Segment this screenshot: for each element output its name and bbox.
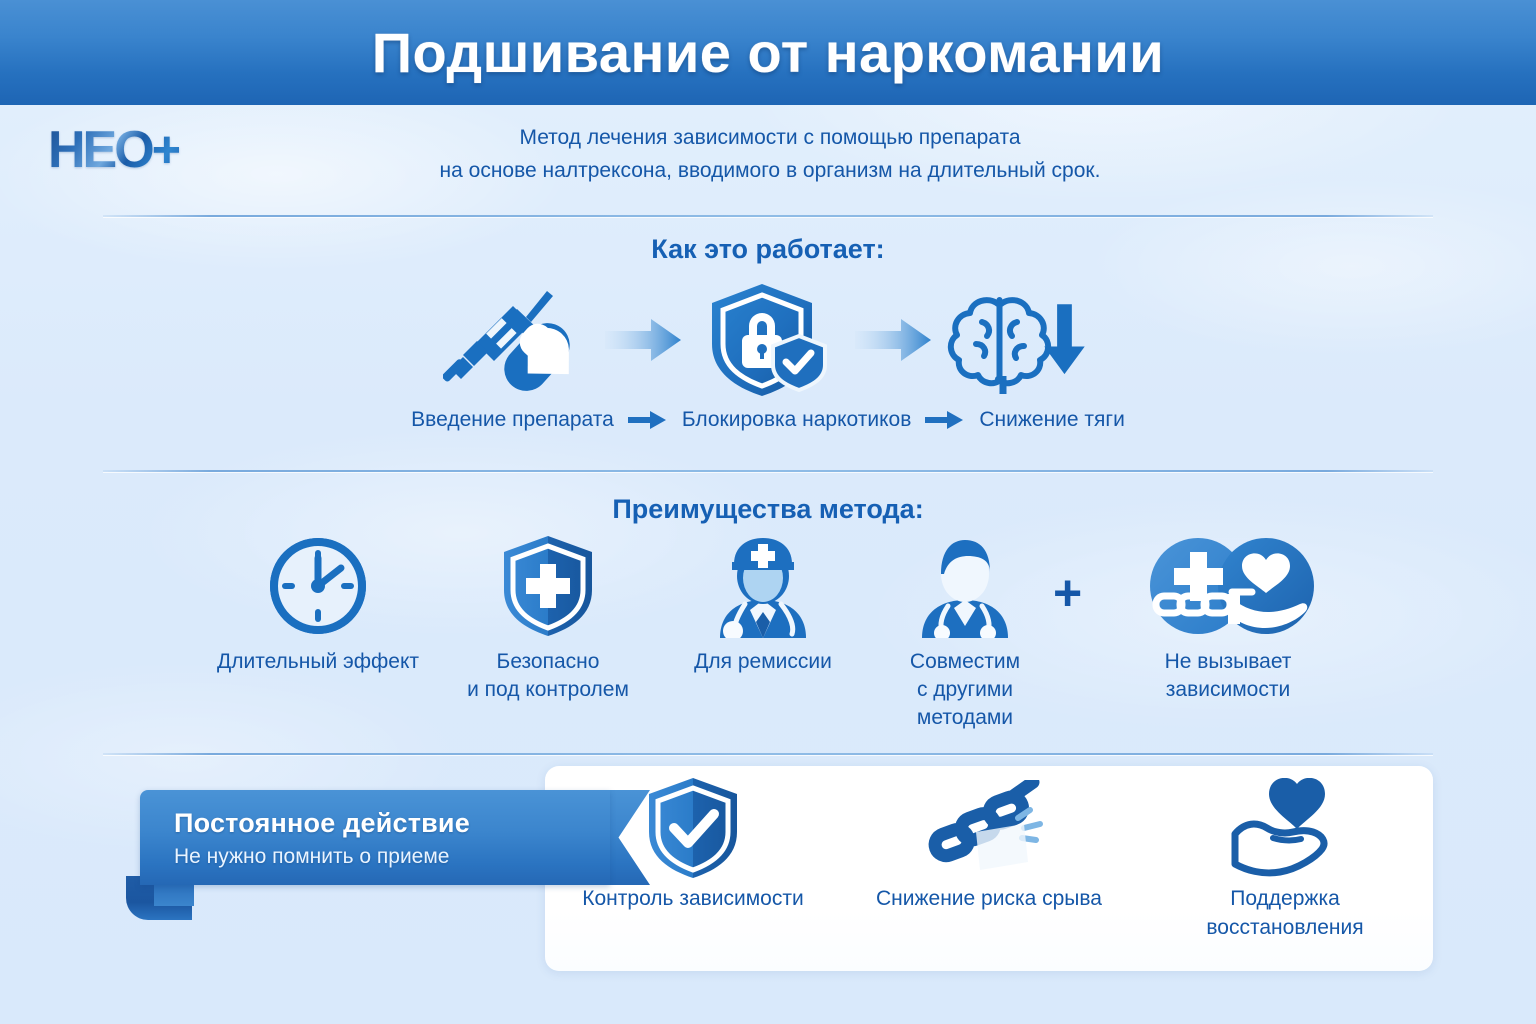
ribbon-subtitle: Не нужно помнить о приеме	[174, 845, 594, 869]
shield-lock-icon	[688, 280, 848, 400]
brain-down-arrow-icon	[938, 280, 1098, 400]
ribbon-banner: Постоянное действие Не нужно помнить о п…	[140, 790, 660, 920]
flow-arrow-2-icon	[848, 280, 938, 400]
ribbon-text: Постоянное действие Не нужно помнить о п…	[174, 808, 594, 869]
brand-logo: НЕО+	[48, 119, 238, 181]
label-arrow-2-icon	[925, 410, 965, 430]
divider-top	[103, 215, 1433, 217]
syringe-pill-icon	[438, 280, 598, 400]
plus-symbol: +	[1053, 568, 1082, 618]
advantage-label-0: Длительный эффект	[217, 648, 419, 676]
ribbon-title: Постоянное действие	[174, 808, 594, 839]
advantage-item-safe: Безопасно и под контролем	[443, 538, 653, 704]
doctor-icon	[708, 538, 818, 634]
intro-line-1: Метод лечения зависимости с помощью преп…	[280, 121, 1260, 154]
advantage-label-1: Безопасно и под контролем	[467, 648, 629, 704]
label-arrow-1-icon	[628, 410, 668, 430]
advantage-item-remission: Для ремиссии	[658, 538, 868, 676]
step-label-2: Снижение тяги	[979, 408, 1124, 432]
advantage-label-4: Не вызывает зависимости	[1165, 648, 1292, 704]
breaking-chain-icon	[924, 780, 1054, 876]
page-title: Подшивание от наркомании	[372, 20, 1164, 85]
advantage-item-compatible: Совместим с другими методами	[860, 538, 1070, 732]
outcome-item-relapse: Снижение риска срыва	[864, 780, 1114, 913]
intro-line-2: на основе налтрексона, вводимого в орган…	[280, 154, 1260, 187]
outcome-label-2: Поддержка восстановления	[1206, 884, 1363, 942]
how-it-works-icon-row	[0, 280, 1536, 400]
header-banner: Подшивание от наркомании	[0, 0, 1536, 105]
outcome-item-support: Поддержка восстановления	[1160, 780, 1410, 942]
step-label-0: Введение препарата	[411, 408, 614, 432]
outcome-label-1: Снижение риска срыва	[876, 884, 1102, 913]
advantages-heading: Преимущества метода:	[0, 494, 1536, 525]
divider-middle	[103, 470, 1433, 472]
flow-arrow-1-icon	[598, 280, 688, 400]
outcomes-row: Контроль зависимости	[545, 780, 1433, 960]
how-it-works-heading: Как это работает:	[0, 234, 1536, 265]
advantage-item-long-effect: Длительный эффект	[213, 538, 423, 676]
how-it-works-label-row: Введение препарата Блокировка наркотиков…	[0, 408, 1536, 432]
advantage-item-no-dependency: Не вызывает зависимости	[1103, 538, 1353, 704]
step-label-1: Блокировка наркотиков	[682, 408, 912, 432]
intro-row: НЕО+ Метод лечения зависимости с помощью…	[0, 105, 1536, 215]
heart-in-hand-icon	[1225, 780, 1345, 876]
broken-chain-heart-hand-icon	[1128, 538, 1328, 634]
medic-person-icon	[910, 538, 1020, 634]
infographic-poster: Подшивание от наркомании НЕО+ Метод лече…	[0, 0, 1536, 1024]
shield-cross-icon	[500, 538, 596, 634]
logo-text: НЕО+	[48, 120, 179, 180]
advantages-row: Длительный эффект	[0, 538, 1536, 738]
advantage-label-2: Для ремиссии	[694, 648, 832, 676]
clock-icon	[268, 538, 368, 634]
advantage-label-3: Совместим с другими методами	[910, 648, 1020, 732]
divider-bottom	[103, 753, 1433, 755]
intro-text: Метод лечения зависимости с помощью преп…	[280, 121, 1260, 187]
